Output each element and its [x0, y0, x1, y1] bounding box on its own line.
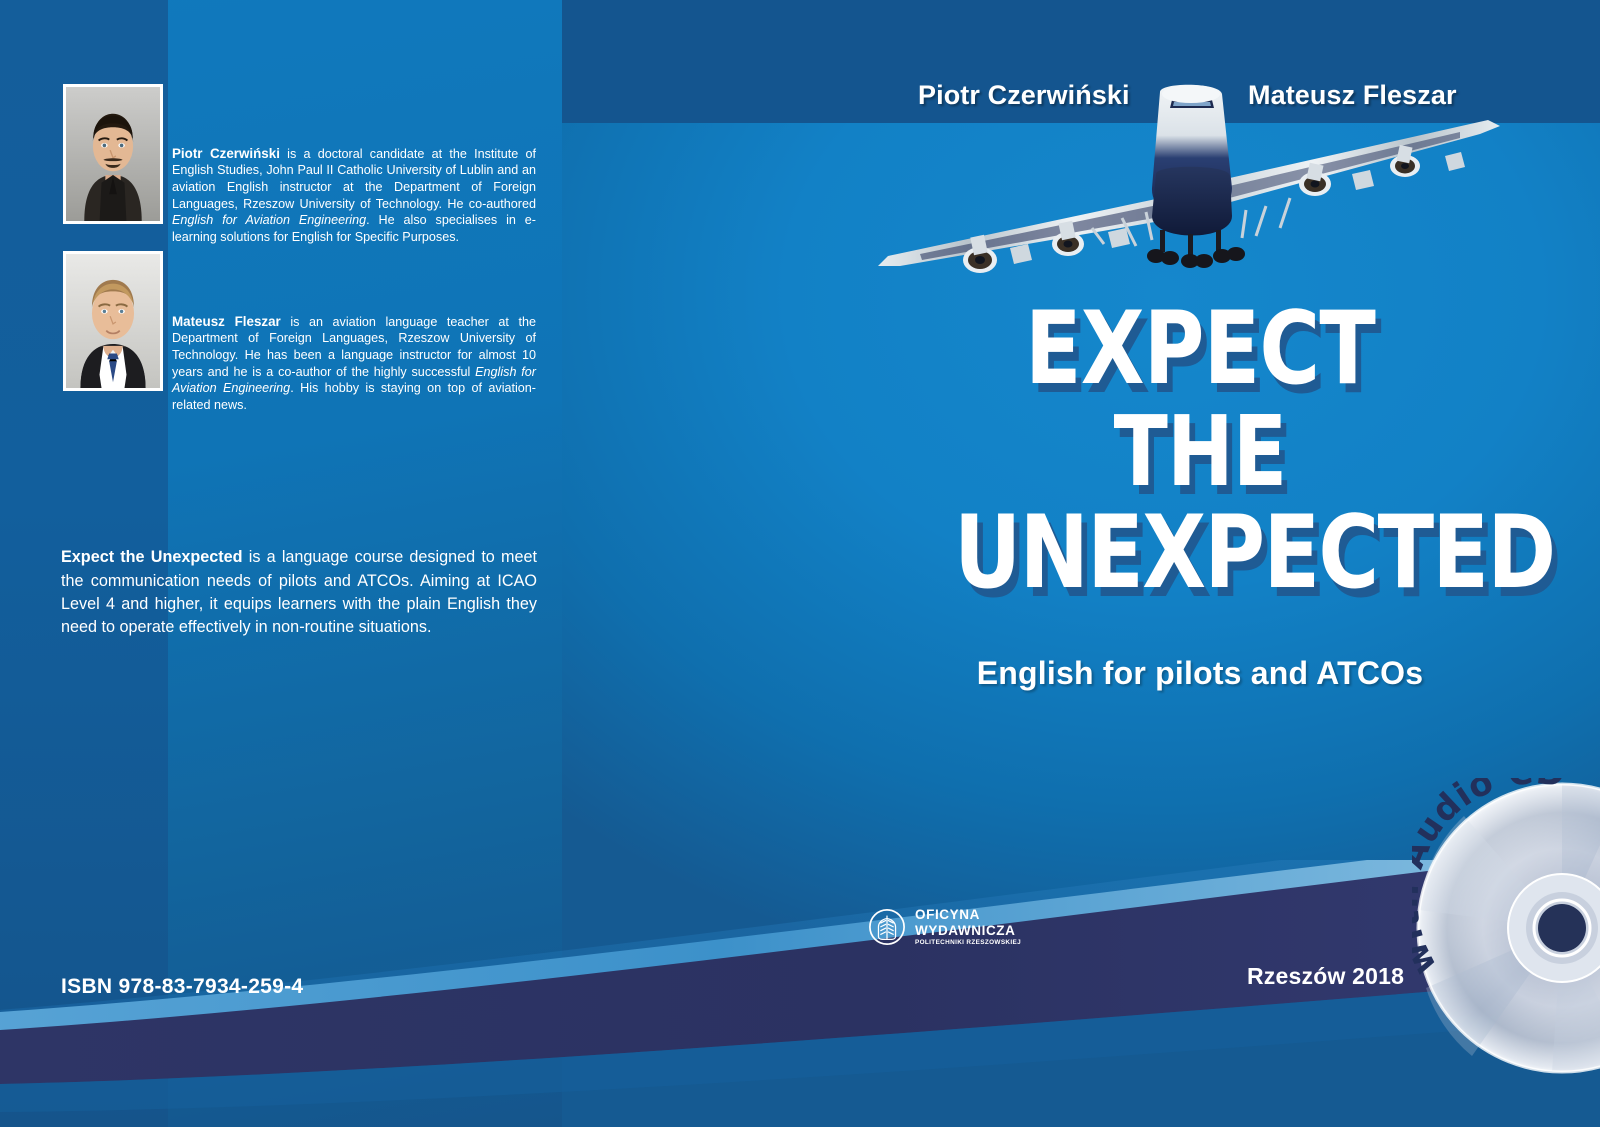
book-title: EXPECT THE UNEXPECTED: [900, 300, 1500, 601]
book-subtitle: English for pilots and ATCOs: [900, 655, 1500, 692]
isbn-text: ISBN 978-83-7934-259-4: [61, 975, 303, 999]
title-line-1: EXPECT: [954, 300, 1446, 397]
bio-author-name-1: Piotr Czerwiński: [172, 146, 280, 161]
front-author-name-1: Piotr Czerwiński: [918, 80, 1130, 111]
author-photo-2: [63, 251, 163, 391]
front-author-name-2: Mateusz Fleszar: [1248, 80, 1457, 111]
author-photo-1: [63, 84, 163, 224]
place-and-year: Rzeszów 2018: [1247, 963, 1404, 990]
bio-italic-title-1: English for Aviation Engineering: [172, 213, 366, 227]
audio-cd-badge: with Audio CD: [1412, 778, 1600, 1078]
title-line-3: UNEXPECTED: [954, 504, 1446, 601]
publisher-line-1: OFICYNA: [915, 908, 1021, 922]
publisher-logo: OFICYNA WYDAWNICZA POLITECHNIKI RZESZOWS…: [868, 908, 1021, 946]
author-bio-1: Piotr Czerwiński is a doctoral candidate…: [172, 145, 536, 246]
publisher-line-2: WYDAWNICZA: [915, 924, 1021, 938]
publisher-line-3: POLITECHNIKI RZESZOWSKIEJ: [915, 940, 1021, 946]
blurb-title: Expect the Unexpected: [61, 548, 243, 566]
title-line-2: THE: [954, 405, 1446, 498]
bio-author-name-2: Mateusz Fleszar: [172, 314, 281, 329]
oficyna-wydawnicza-mark: [868, 908, 906, 946]
back-cover-blurb: Expect the Unexpected is a language cour…: [61, 546, 537, 639]
author-bio-2: Mateusz Fleszar is an aviation language …: [172, 313, 536, 414]
book-cover: Piotr Czerwiński Mateusz Fleszar EXPECT …: [0, 0, 1600, 1127]
